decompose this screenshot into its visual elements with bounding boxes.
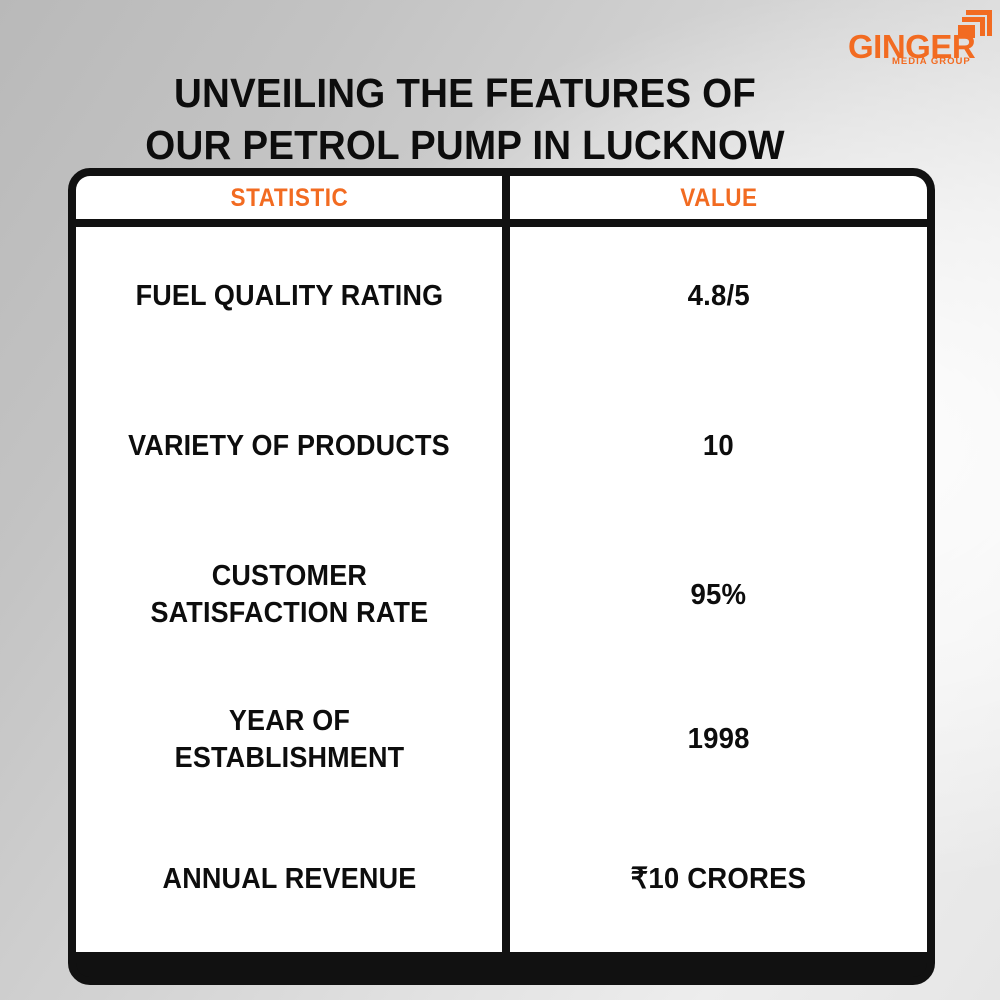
table-cell-value: 95% xyxy=(502,527,927,673)
table-cell-statistic: CUSTOMER SATISFACTION RATE xyxy=(76,527,502,673)
logo-tagline: MEDIA GROUP xyxy=(892,57,971,67)
statistic-label-variety-of-products: VARIETY OF PRODUCTS xyxy=(119,428,459,465)
value-customer-satisfaction-rate: 95% xyxy=(681,577,756,614)
table-row: ANNUAL REVENUE ₹10 CRORES xyxy=(76,808,927,944)
statistic-label-annual-revenue: ANNUAL REVENUE xyxy=(153,861,425,898)
page-title-line-2: OUR PETROL PUMP IN LUCKNOW xyxy=(84,119,845,171)
table-cell-value: 10 xyxy=(502,382,927,527)
table-header-cell-statistic: STATISTIC xyxy=(76,176,502,219)
column-header-value: VALUE xyxy=(680,184,757,212)
statistic-label-fuel-quality-rating: FUEL QUALITY RATING xyxy=(126,278,452,315)
table-cell-value: 4.8/5 xyxy=(502,227,927,382)
value-fuel-quality-rating: 4.8/5 xyxy=(678,278,759,315)
table-cell-statistic: ANNUAL REVENUE xyxy=(76,816,502,952)
table-row: YEAR OF ESTABLISHMENT 1998 xyxy=(76,665,927,808)
table-cell-statistic: VARIETY OF PRODUCTS xyxy=(76,382,502,527)
table-row: VARIETY OF PRODUCTS 10 xyxy=(76,374,927,519)
page-title: UNVEILING THE FEATURES OF OUR PETROL PUM… xyxy=(84,67,845,171)
table-cell-statistic: FUEL QUALITY RATING xyxy=(76,227,502,382)
table-header-row: STATISTIC VALUE xyxy=(76,176,927,219)
value-annual-revenue: ₹10 CRORES xyxy=(621,861,816,898)
value-variety-of-products: 10 xyxy=(693,428,743,465)
table-cell-statistic: YEAR OF ESTABLISHMENT xyxy=(76,673,502,816)
statistic-label-customer-satisfaction-rate: CUSTOMER SATISFACTION RATE xyxy=(141,558,437,632)
statistics-table: STATISTIC VALUE FUEL QUALITY RATING 4.8/… xyxy=(68,168,935,985)
value-year-of-establishment: 1998 xyxy=(678,721,759,758)
table-header-cell-value: VALUE xyxy=(502,176,927,219)
column-header-statistic: STATISTIC xyxy=(230,184,348,212)
table-row: FUEL QUALITY RATING 4.8/5 xyxy=(76,219,927,374)
table-cell-value: ₹10 CRORES xyxy=(502,816,927,952)
table-row: CUSTOMER SATISFACTION RATE 95% xyxy=(76,519,927,665)
table-cell-value: 1998 xyxy=(502,673,927,816)
page-title-line-1: UNVEILING THE FEATURES OF xyxy=(84,67,845,119)
infographic-poster: GINGER MEDIA GROUP UNVEILING THE FEATURE… xyxy=(0,0,1000,1000)
statistic-label-year-of-establishment: YEAR OF ESTABLISHMENT xyxy=(165,703,413,777)
ginger-media-group-logo: GINGER MEDIA GROUP xyxy=(848,6,994,68)
